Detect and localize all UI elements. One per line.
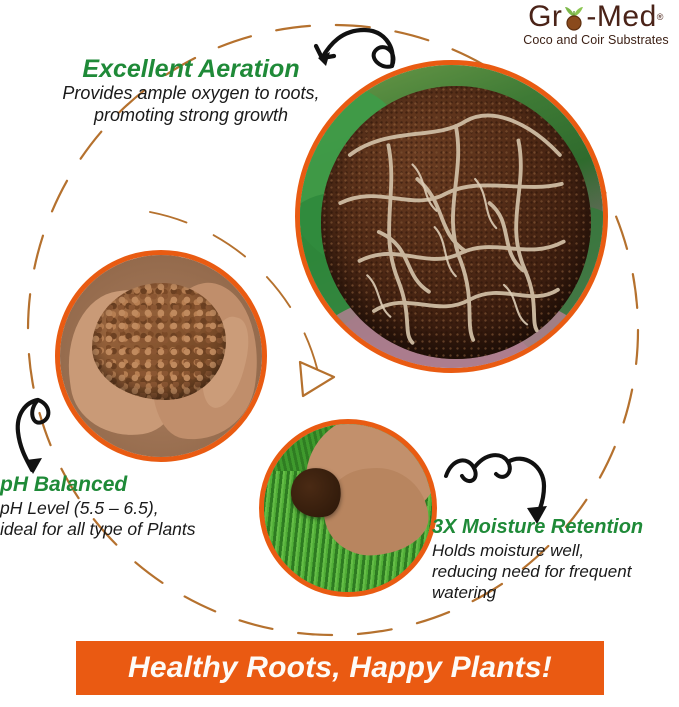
feature-ph-line1: pH Level (5.5 – 6.5), xyxy=(0,498,250,519)
feature-aeration-heading: Excellent Aeration xyxy=(36,56,346,82)
coco-chips-scene xyxy=(60,255,262,457)
brand-prefix: Gr xyxy=(528,2,562,32)
feature-moisture-line2: reducing need for frequent xyxy=(432,561,679,582)
brand-logo: Gr -Med ® Coco and Coir Substrates xyxy=(516,2,676,47)
cta-banner-text: Healthy Roots, Happy Plants! xyxy=(128,651,552,685)
cta-banner: Healthy Roots, Happy Plants! xyxy=(76,641,604,695)
arrow-to-ph-icon xyxy=(18,400,49,474)
brand-wordmark: Gr -Med ® xyxy=(516,2,676,32)
feature-moisture-line3: watering xyxy=(432,582,679,603)
root-network xyxy=(321,86,591,359)
brand-suffix: -Med xyxy=(586,2,656,32)
sprouting-seed-icon xyxy=(562,2,586,32)
feature-aeration: Excellent Aeration Provides ample oxygen… xyxy=(36,56,346,126)
coco-soil-ball xyxy=(321,86,591,359)
feature-moisture-heading: 3X Moisture Retention xyxy=(432,514,679,540)
feature-moisture-line1: Holds moisture well, xyxy=(432,540,679,561)
feature-moisture: 3X Moisture Retention Holds moisture wel… xyxy=(432,514,679,603)
photo-coco-peat-grass xyxy=(259,419,437,597)
brand-tagline: Coco and Coir Substrates xyxy=(516,33,676,47)
feature-ph-line2: ideal for all type of Plants xyxy=(0,519,250,540)
photo-coco-chips xyxy=(55,250,267,462)
feature-aeration-line2: promoting strong growth xyxy=(36,104,346,126)
feature-aeration-line1: Provides ample oxygen to roots, xyxy=(36,82,346,104)
feature-ph-heading: pH Balanced xyxy=(0,472,250,498)
infographic-canvas: Gr -Med ® Coco and Coir Substrates xyxy=(0,0,679,707)
coco-chip-pile xyxy=(92,283,225,400)
grass-scene xyxy=(264,424,432,592)
registered-trademark-icon: ® xyxy=(657,2,664,32)
feature-ph: pH Balanced pH Level (5.5 – 6.5), ideal … xyxy=(0,472,250,540)
